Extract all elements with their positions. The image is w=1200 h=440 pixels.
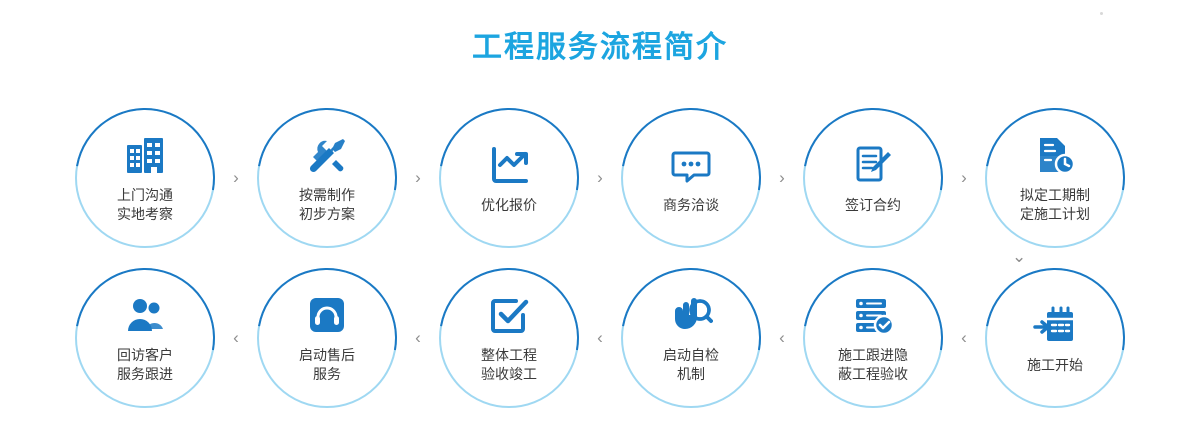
arrow-left-2: ‹	[402, 263, 434, 413]
flow-node-label: 拟定工期制 定施工计划	[1020, 186, 1090, 224]
flow-node-label: 优化报价	[481, 196, 537, 215]
flow-node-8[interactable]: 施工跟进隐 蔽工程验收	[798, 263, 948, 413]
chat-bubble-icon	[668, 142, 714, 188]
flow-node-9[interactable]: 启动自检 机制	[616, 263, 766, 413]
page-title: 工程服务流程简介	[0, 22, 1200, 66]
arrow-left-3: ‹	[584, 263, 616, 413]
flow-node-7[interactable]: 施工开始	[980, 263, 1130, 413]
document-clock-icon	[1032, 132, 1078, 178]
flow-node-5[interactable]: 签订合约	[798, 103, 948, 253]
flow-node-label: 施工开始	[1027, 356, 1083, 375]
flow-node-1[interactable]: 上门沟通 实地考察	[70, 103, 220, 253]
flow-node-label: 按需制作 初步方案	[299, 186, 355, 224]
flow-node-label: 整体工程 验收竣工	[481, 346, 537, 384]
flow-node-label: 商务洽谈	[663, 196, 719, 215]
tools-icon	[304, 132, 350, 178]
flow-node-label: 启动售后 服务	[299, 346, 355, 384]
flow-node-label: 签订合约	[845, 196, 901, 215]
headset-support-icon	[304, 292, 350, 338]
building-icon	[122, 132, 168, 178]
calendar-start-icon	[1032, 302, 1078, 348]
users-return-icon	[122, 292, 168, 338]
arrow-right-1: ›	[220, 103, 252, 253]
hand-search-icon	[668, 292, 714, 338]
flow-node-label: 启动自检 机制	[663, 346, 719, 384]
flow-node-6[interactable]: 拟定工期制 定施工计划	[980, 103, 1130, 253]
flow-node-4[interactable]: 商务洽谈	[616, 103, 766, 253]
checkbox-check-icon	[486, 292, 532, 338]
arrow-right-5: ›	[948, 103, 980, 253]
decorative-dot	[1100, 12, 1103, 15]
flow-node-11[interactable]: 启动售后 服务	[252, 263, 402, 413]
flow-node-10[interactable]: 整体工程 验收竣工	[434, 263, 584, 413]
arrow-right-3: ›	[584, 103, 616, 253]
arrow-left-1: ‹	[220, 263, 252, 413]
server-check-icon	[850, 292, 896, 338]
flow-node-label: 施工跟进隐 蔽工程验收	[838, 346, 908, 384]
flow-node-12[interactable]: 回访客户 服务跟进	[70, 263, 220, 413]
arrow-right-4: ›	[766, 103, 798, 253]
flow-row-2: 回访客户 服务跟进 ‹ 启动售后 服务 ‹	[0, 258, 1200, 418]
flow-node-label: 上门沟通 实地考察	[117, 186, 173, 224]
arrow-left-4: ‹	[766, 263, 798, 413]
chart-down-icon	[486, 142, 532, 188]
flow-node-2[interactable]: 按需制作 初步方案	[252, 103, 402, 253]
flow-node-label: 回访客户 服务跟进	[117, 346, 173, 384]
arrow-left-5: ‹	[948, 263, 980, 413]
arrow-right-2: ›	[402, 103, 434, 253]
contract-pen-icon	[850, 142, 896, 188]
flow-node-3[interactable]: 优化报价	[434, 103, 584, 253]
flow-row-1: 上门沟通 实地考察 › 按需制作 初步方案 ›	[0, 98, 1200, 258]
